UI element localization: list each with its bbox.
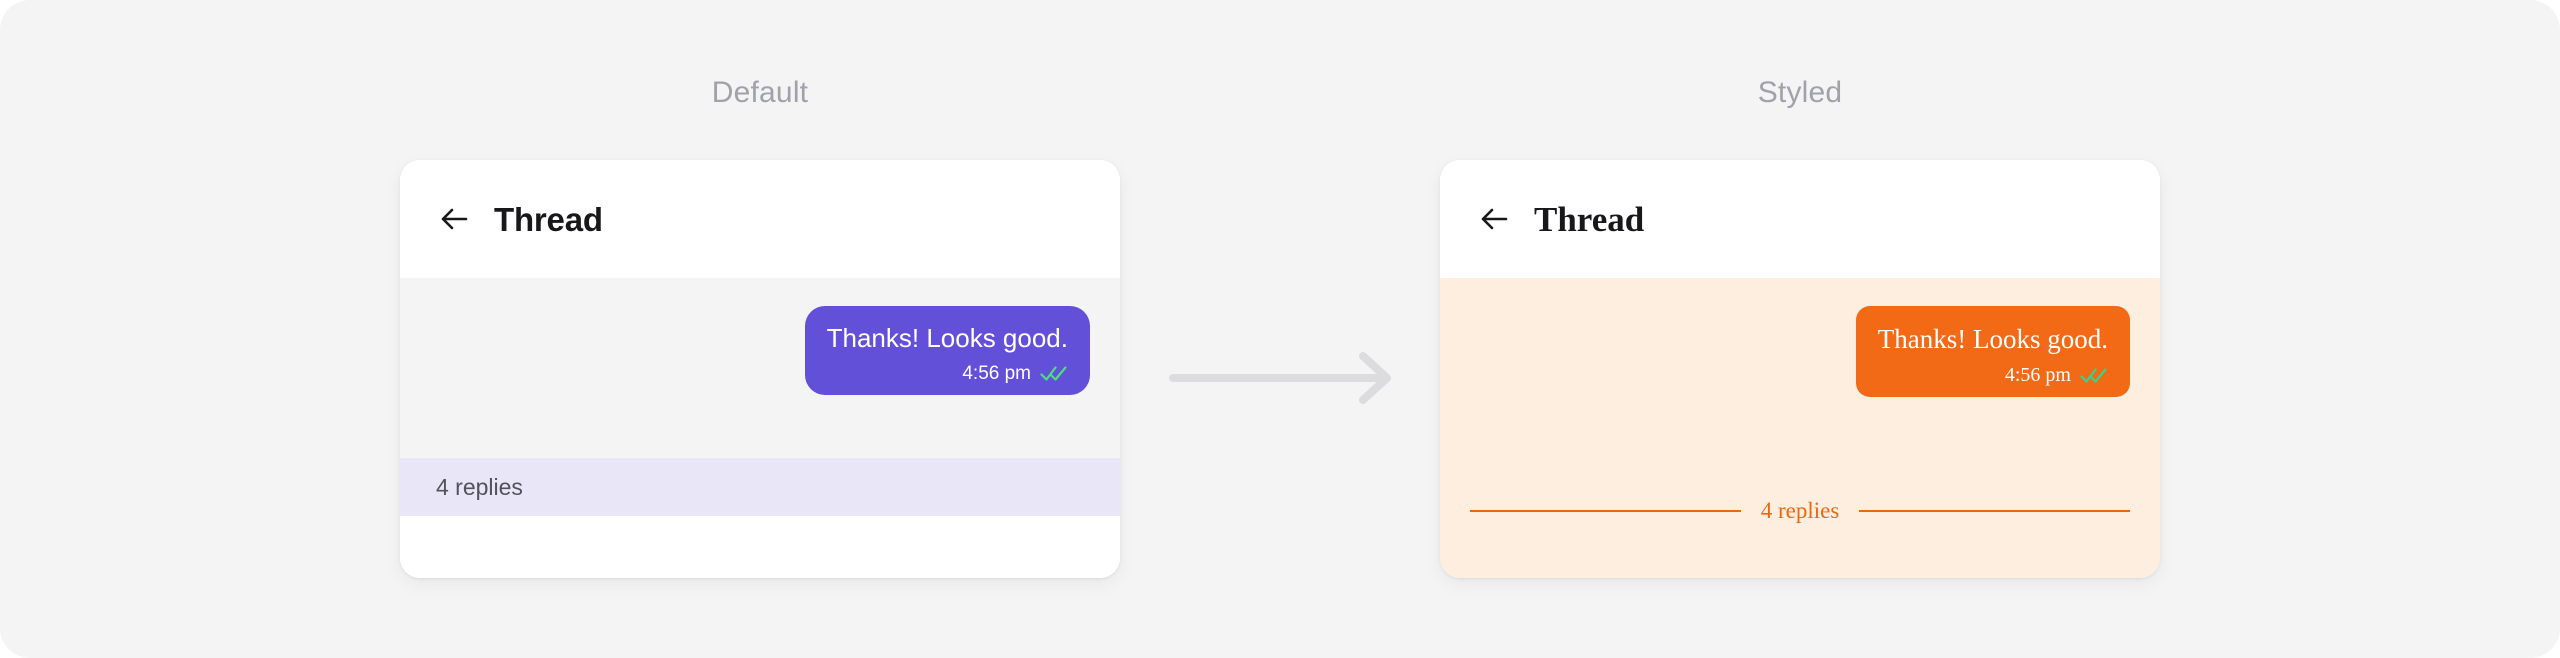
replies-divider-styled[interactable]: 4 replies <box>1440 499 2160 522</box>
message-timestamp: 4:56 pm <box>962 364 1031 383</box>
panel-label-default: Default <box>400 78 1120 108</box>
message-meta: 4:56 pm <box>827 364 1068 383</box>
replies-rule-left <box>1470 510 1741 512</box>
message-meta: 4:56 pm <box>1878 365 2108 385</box>
message-area-styled: Thanks! Looks good. 4:56 pm 4 replies <box>1440 278 2160 578</box>
arrow-left-icon[interactable] <box>436 201 472 237</box>
thread-card-default: Thread Thanks! Looks good. 4:56 pm <box>400 160 1120 578</box>
comparison-canvas: Default Thread Thanks! Looks good. 4:56 … <box>0 0 2560 658</box>
arrow-right-icon <box>1165 348 1405 408</box>
thread-card-styled: Thread Thanks! Looks good. 4:56 pm <box>1440 160 2160 578</box>
card-title-styled: Thread <box>1534 202 1644 237</box>
message-text: Thanks! Looks good. <box>1878 324 2108 355</box>
double-check-icon <box>1040 364 1068 382</box>
message-timestamp: 4:56 pm <box>2005 365 2071 385</box>
panel-label-styled: Styled <box>1440 78 2160 108</box>
message-row-default: Thanks! Looks good. 4:56 pm <box>400 278 1120 395</box>
card-header-styled: Thread <box>1440 160 2160 278</box>
replies-count-label: 4 replies <box>1761 499 1840 522</box>
panel-default: Default Thread Thanks! Looks good. 4:56 … <box>400 0 1120 658</box>
replies-rule-right <box>1859 510 2130 512</box>
message-row-styled: Thanks! Looks good. 4:56 pm <box>1440 278 2160 397</box>
arrow-left-icon[interactable] <box>1476 201 1512 237</box>
card-footer-default <box>400 516 1120 578</box>
replies-divider-default[interactable]: 4 replies <box>400 458 1120 516</box>
replies-count-label: 4 replies <box>436 476 523 499</box>
message-bubble-default[interactable]: Thanks! Looks good. 4:56 pm <box>805 306 1090 395</box>
double-check-icon <box>2080 366 2108 384</box>
panel-styled: Styled Thread Thanks! Looks good. 4:56 p… <box>1440 0 2160 658</box>
message-bubble-styled[interactable]: Thanks! Looks good. 4:56 pm <box>1856 306 2130 397</box>
message-text: Thanks! Looks good. <box>827 324 1068 354</box>
message-area-default: Thanks! Looks good. 4:56 pm 4 replies <box>400 278 1120 516</box>
card-title-default: Thread <box>494 203 603 236</box>
card-header-default: Thread <box>400 160 1120 278</box>
